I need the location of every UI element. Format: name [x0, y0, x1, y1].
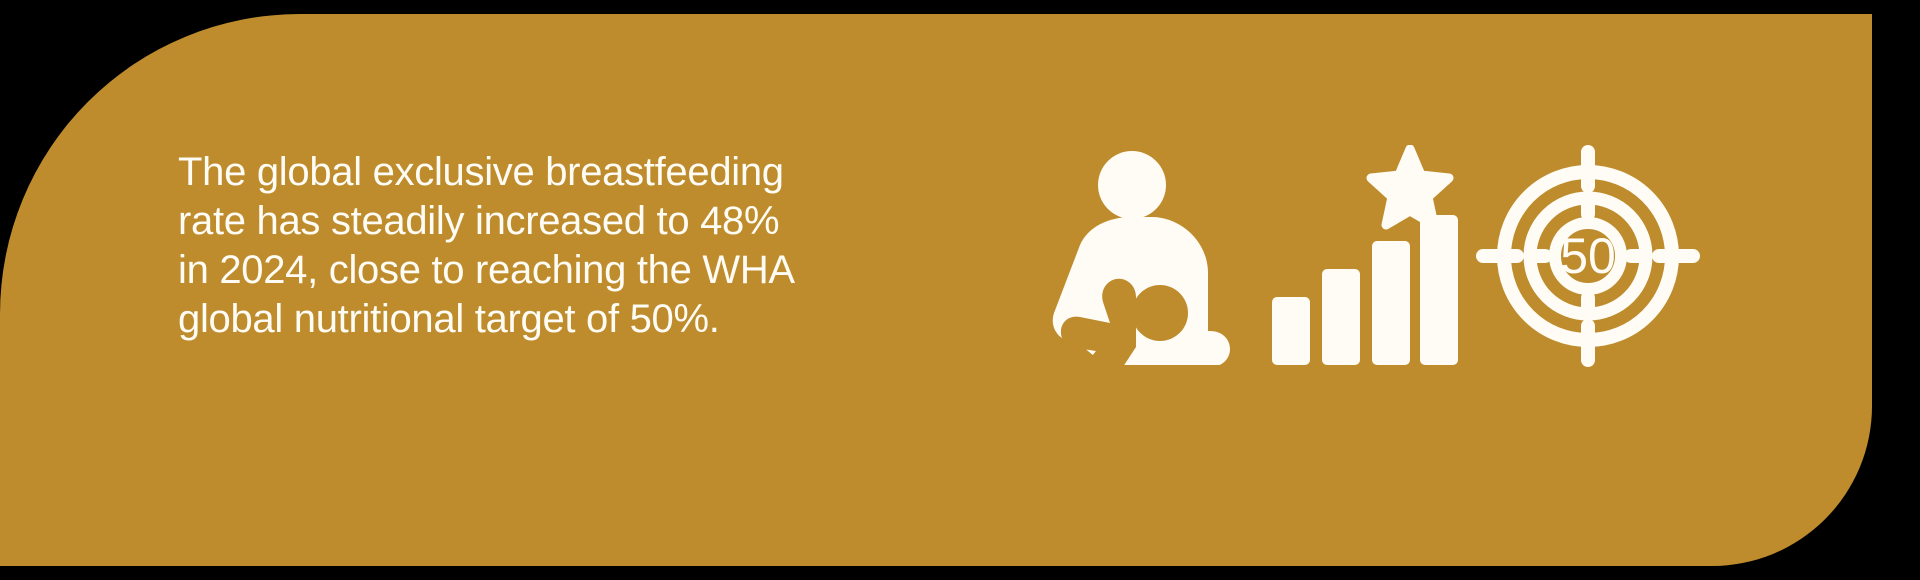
statement-line-3: in 2024, close to reaching the WHA [178, 246, 818, 295]
statement-line-4: global nutritional target of 50%. [178, 295, 818, 344]
target-bullseye-icon: 50 [1476, 145, 1700, 367]
icon-row: 50 [1040, 145, 1700, 385]
target-center-value: 50 [1560, 228, 1616, 284]
statement-line-1: The global exclusive breastfeeding [178, 148, 818, 197]
breastfeeding-mother-icon [1040, 145, 1240, 365]
banner-root: The global exclusive breastfeeding rate … [0, 0, 1920, 580]
statement-line-2: rate has steadily increased to 48% [178, 197, 818, 246]
growth-bar-chart-star-icon [1268, 145, 1458, 365]
statement-text-block: The global exclusive breastfeeding rate … [178, 148, 818, 344]
